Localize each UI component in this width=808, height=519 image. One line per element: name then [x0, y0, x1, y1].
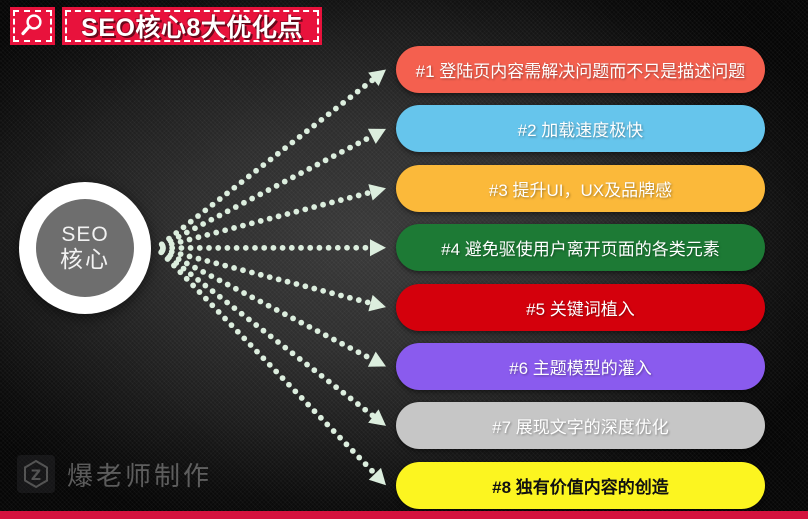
optimization-point-7[interactable]: #7 展现文字的深度优化 — [396, 402, 765, 449]
optimization-point-label: #5 关键词植入 — [526, 295, 635, 320]
slide-canvas: SEO核心8大优化点 SEO 核心 #1 登陆页内容需解决问题而不只是描述问题#… — [0, 0, 808, 519]
connector-arrow-3 — [160, 184, 386, 249]
connector-arrow-2 — [159, 129, 386, 248]
watermark-logo-icon: Z — [17, 455, 55, 493]
optimization-point-4[interactable]: #4 避免驱使用户离开页面的各类元素 — [396, 224, 765, 271]
optimization-point-label: #4 避免驱使用户离开页面的各类元素 — [441, 235, 720, 260]
optimization-point-label: #8 独有价值内容的创造 — [492, 473, 669, 498]
arrowhead — [370, 239, 386, 256]
optimization-point-2[interactable]: #2 加载速度极快 — [396, 105, 765, 152]
optimization-point-6[interactable]: #6 主题模型的灌入 — [396, 343, 765, 390]
optimization-point-label: #3 提升UI，UX及品牌感 — [489, 176, 672, 201]
hexagon-z-glyph: Z — [21, 459, 51, 489]
optimization-point-label: #6 主题模型的灌入 — [509, 354, 652, 379]
arrowhead — [368, 129, 386, 144]
watermark: Z 爆老师制作 — [17, 455, 212, 493]
optimization-point-label: #2 加载速度极快 — [518, 116, 644, 141]
optimization-point-5[interactable]: #5 关键词植入 — [396, 284, 765, 331]
arrowhead — [368, 184, 386, 200]
optimization-point-label: #7 展现文字的深度优化 — [492, 413, 669, 438]
optimization-point-8[interactable]: #8 独有价值内容的创造 — [396, 462, 765, 509]
connector-arrow-4 — [160, 239, 386, 256]
connector-arrow-1 — [159, 70, 386, 248]
connector-arrow-7 — [159, 249, 386, 426]
connector-arrow-6 — [159, 248, 386, 367]
watermark-text: 爆老师制作 — [67, 456, 212, 493]
optimization-point-1[interactable]: #1 登陆页内容需解决问题而不只是描述问题 — [396, 46, 765, 93]
connector-arrow-5 — [160, 247, 386, 312]
arrowhead — [368, 295, 386, 311]
svg-text:Z: Z — [31, 468, 41, 484]
optimization-point-label: #1 登陆页内容需解决问题而不只是描述问题 — [416, 57, 746, 82]
bottom-accent-rule — [0, 511, 808, 519]
arrowhead — [368, 352, 386, 367]
connector-arrow-8 — [158, 249, 386, 485]
optimization-point-3[interactable]: #3 提升UI，UX及品牌感 — [396, 165, 765, 212]
